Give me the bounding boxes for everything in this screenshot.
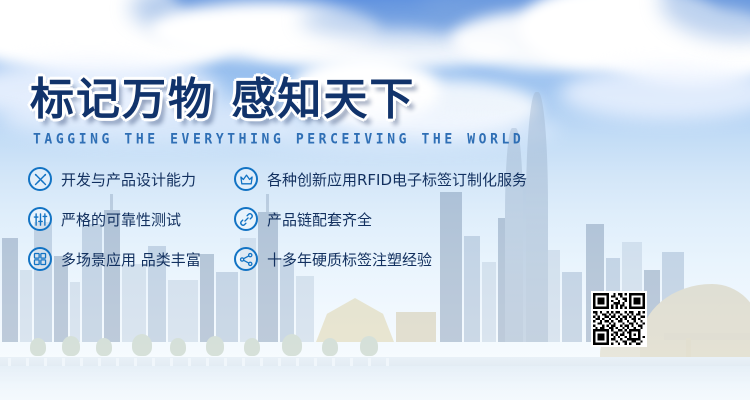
feature-item-supply-chain: 产品链配套齐全 (234, 206, 527, 232)
page-subtitle: TAGGING THE EVERYTHING PERCEIVING THE WO… (33, 131, 524, 148)
feature-label: 十多年硬质标签注塑经验 (267, 249, 432, 270)
feature-label: 严格的可靠性测试 (61, 209, 181, 230)
feature-list: 开发与产品设计能力 严格的可靠性测试 (0, 166, 750, 276)
crown-icon (234, 167, 258, 191)
feature-item-molding-experience: 十多年硬质标签注塑经验 (234, 246, 527, 272)
tools-icon (28, 167, 52, 191)
feature-column-left: 开发与产品设计能力 严格的可靠性测试 (28, 166, 201, 286)
feature-label: 多场景应用 品类丰富 (61, 249, 201, 270)
feature-column-right: 各种创新应用RFID电子标签订制化服务 产品链配套齐全 (234, 166, 527, 286)
feature-item-rfid-customization: 各种创新应用RFID电子标签订制化服务 (234, 166, 527, 192)
grid-icon (28, 247, 52, 271)
qr-code[interactable] (591, 291, 647, 347)
share-network-icon (234, 247, 258, 271)
qr-code-image (591, 291, 647, 347)
promo-banner: 标记万物 感知天下 TAGGING THE EVERYTHING PERCEIV… (0, 0, 750, 400)
sliders-icon (28, 207, 52, 231)
feature-item-multi-scenario: 多场景应用 品类丰富 (28, 246, 201, 272)
feature-label: 各种创新应用RFID电子标签订制化服务 (267, 169, 527, 190)
feature-item-development: 开发与产品设计能力 (28, 166, 201, 192)
feature-label: 产品链配套齐全 (267, 209, 372, 230)
chain-link-icon (234, 207, 258, 231)
feature-label: 开发与产品设计能力 (61, 169, 196, 190)
page-title: 标记万物 感知天下 (30, 74, 415, 126)
feature-item-reliability-test: 严格的可靠性测试 (28, 206, 201, 232)
